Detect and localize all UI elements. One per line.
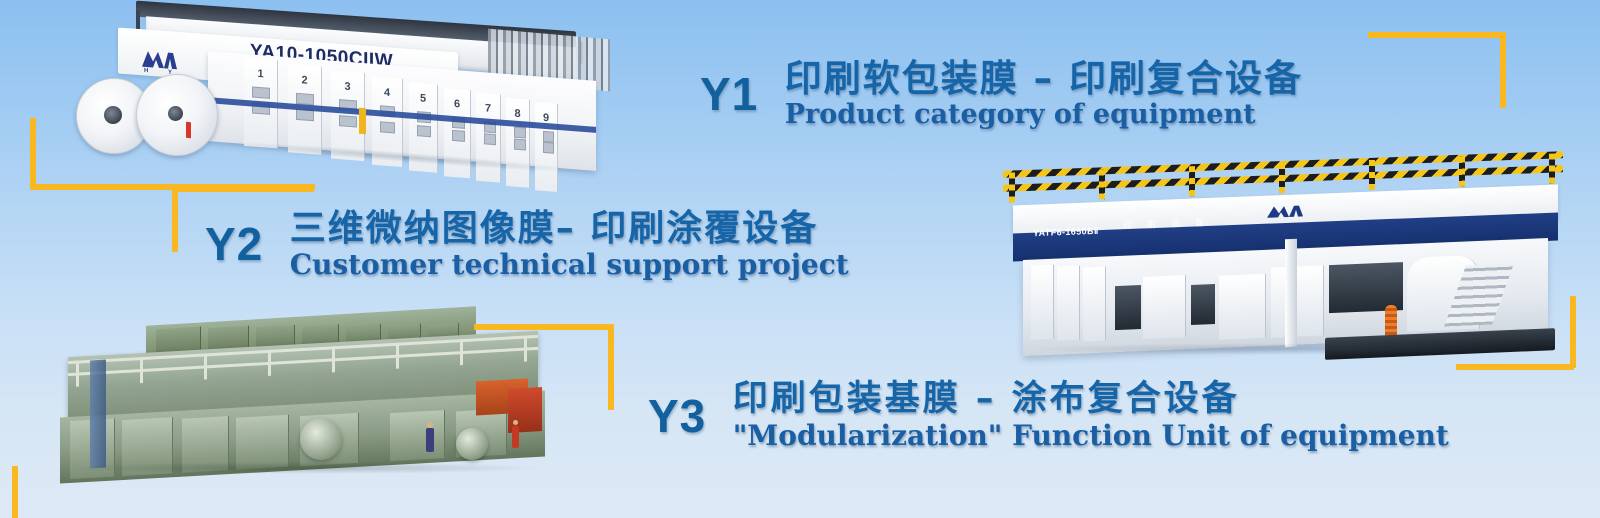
print-unit-number: 4 — [372, 86, 402, 100]
caption-y2: Y2 三维微纳图像膜– 印刷涂覆设备 Customer technical su… — [205, 208, 849, 280]
caption-y3-code: Y3 — [648, 389, 706, 443]
bracket-top-right — [1368, 32, 1506, 110]
caption-y3: Y3 印刷包装基膜 – 涂布复合设备 "Modularization" Func… — [648, 380, 1449, 451]
rewind-reel-hub — [168, 106, 183, 121]
operator-head — [427, 422, 433, 428]
caption-y3-chinese: 印刷包装基膜 – 涂布复合设备 — [733, 380, 1449, 420]
caption-y2-lines: 三维微纳图像膜– 印刷涂覆设备 Customer technical suppo… — [290, 208, 849, 280]
coater-station — [1219, 274, 1266, 340]
print-unit: 9 — [535, 102, 558, 192]
paperline-coating-drum — [300, 418, 342, 460]
paperline-ground-shadow — [60, 462, 545, 474]
machine-paper-coating-line — [38, 300, 578, 500]
print-unit: 8 — [506, 98, 530, 188]
caption-y1-chinese: 印刷软包装膜 – 印刷复合设备 — [785, 58, 1303, 100]
machine-rotogravure-press: H Y YA10-1050CIIW 1 2 3 4 5 6 7 8 9 — [58, 4, 618, 176]
caption-y2-chinese: 三维微纳图像膜– 印刷涂覆设备 — [290, 208, 849, 249]
caption-y3-english: "Modularization" Function Unit of equipm… — [733, 420, 1449, 451]
coater-station — [1031, 265, 1054, 340]
manufacturer-logo-icon — [1265, 202, 1311, 222]
print-unit-number: 6 — [444, 97, 470, 111]
machine-coating-laminating-line: 印 刷 设 备 YATF6-1650BⅡ — [985, 155, 1585, 365]
caption-y1-code: Y1 — [700, 67, 758, 121]
paperline-web-path — [90, 360, 106, 469]
caption-y1: Y1 印刷软包装膜 – 印刷复合设备 Product category of e… — [700, 58, 1303, 130]
hy-logo-icon: H Y — [138, 46, 182, 75]
operator-head — [513, 420, 518, 425]
print-unit-number: 1 — [244, 67, 277, 82]
coater-station — [1083, 267, 1106, 342]
print-unit-number: 8 — [506, 107, 529, 121]
press-yellow-marker — [359, 108, 366, 135]
paperline-coating-drum — [456, 428, 488, 460]
caption-y1-english: Product category of equipment — [785, 100, 1303, 130]
caption-y2-code: Y2 — [205, 217, 263, 271]
unwind-reel-hub — [104, 106, 122, 124]
print-unit-number: 2 — [288, 73, 321, 88]
coater-support-pillar — [1285, 239, 1297, 348]
coater-internal-roller — [1191, 284, 1215, 325]
caption-y1-lines: 印刷软包装膜 – 印刷复合设备 Product category of equi… — [785, 58, 1303, 130]
equipment-banner: H Y YA10-1050CIIW 1 2 3 4 5 6 7 8 9 — [0, 0, 1600, 518]
press-red-indicator — [186, 122, 191, 138]
paperline-station — [390, 410, 445, 461]
coater-ground-shadow — [1023, 343, 1548, 355]
caption-y2-english: Customer technical support project — [290, 249, 849, 280]
print-unit-number: 5 — [409, 92, 437, 106]
coater-internal-roller — [1115, 285, 1141, 330]
print-unit-number: 7 — [476, 102, 500, 116]
coater-station — [1271, 265, 1324, 337]
coater-station — [1143, 275, 1186, 339]
caption-y3-lines: 印刷包装基膜 – 涂布复合设备 "Modularization" Functio… — [733, 380, 1449, 451]
operator-figure — [426, 428, 434, 452]
print-unit-number: 3 — [331, 80, 364, 95]
coater-station — [1057, 266, 1080, 341]
operator-figure — [512, 426, 519, 448]
